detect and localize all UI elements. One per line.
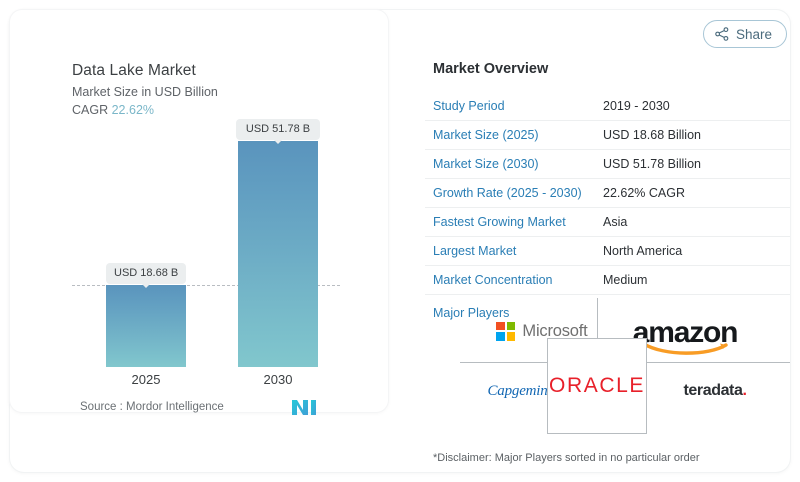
row-key: Market Size (2025) — [425, 128, 603, 142]
row-value: 2019 - 2030 — [603, 99, 670, 113]
share-label: Share — [736, 27, 772, 42]
row-key: Fastest Growing Market — [425, 215, 603, 229]
table-row: Market Size (2025) USD 18.68 Billion — [425, 121, 790, 150]
row-value: North America — [603, 244, 682, 258]
mordor-intelligence-logo — [291, 399, 317, 416]
table-row: Fastest Growing Market Asia — [425, 208, 790, 237]
bar-label-2030: USD 51.78 B — [236, 119, 320, 140]
row-key: Study Period — [425, 99, 603, 113]
microsoft-squares-icon — [496, 322, 515, 341]
row-key: Market Size (2030) — [425, 157, 603, 171]
row-value: 22.62% CAGR — [603, 186, 685, 200]
bar-2030[interactable] — [238, 141, 318, 367]
row-key: Market Concentration — [425, 273, 603, 287]
table-row: Growth Rate (2025 - 2030) 22.62% CAGR — [425, 179, 790, 208]
source-attribution: Source : Mordor Intelligence — [80, 401, 224, 413]
chart-card: Data Lake Market Market Size in USD Bill… — [10, 10, 388, 412]
teradata-wordmark: teradata. — [683, 382, 746, 400]
table-row: Largest Market North America — [425, 237, 790, 266]
oracle-wordmark: ORACLE — [549, 374, 645, 398]
bar-2025[interactable] — [106, 285, 186, 367]
row-key: Largest Market — [425, 244, 603, 258]
row-value: USD 51.78 Billion — [603, 157, 701, 171]
table-row: Market Concentration Medium — [425, 266, 790, 295]
player-logo-oracle[interactable]: ORACLE — [547, 338, 647, 434]
row-value: Medium — [603, 273, 647, 287]
bar-chart-plot-area: USD 18.68 B USD 51.78 B 2025 2030 — [10, 10, 388, 412]
player-logo-teradata[interactable]: teradata. — [660, 374, 770, 408]
amazon-smile-icon — [642, 342, 730, 355]
overview-table: Study Period 2019 - 2030 Market Size (20… — [425, 92, 790, 331]
capgemini-wordmark: Capgemini — [487, 383, 551, 400]
overview-title: Market Overview — [433, 61, 548, 77]
table-row: Study Period 2019 - 2030 — [425, 92, 790, 121]
row-value: USD 18.68 Billion — [603, 128, 701, 142]
major-players-logo-grid: Microsoft amazon ORACLE Capgemini terada… — [460, 298, 790, 426]
disclaimer-text: *Disclaimer: Major Players sorted in no … — [433, 452, 700, 464]
row-value: Asia — [603, 215, 627, 229]
bar-label-2025: USD 18.68 B — [106, 263, 186, 284]
share-nodes-icon — [715, 27, 729, 41]
market-overview-panel: Share Market Overview Study Period 2019 … — [415, 10, 790, 472]
table-row: Market Size (2030) USD 51.78 Billion — [425, 150, 790, 179]
teradata-text: teradata — [683, 382, 742, 399]
x-axis-tick-2030: 2030 — [238, 372, 318, 387]
report-card: Data Lake Market Market Size in USD Bill… — [10, 10, 790, 472]
share-button[interactable]: Share — [703, 20, 787, 48]
x-axis-tick-2025: 2025 — [106, 372, 186, 387]
row-key: Growth Rate (2025 - 2030) — [425, 186, 603, 200]
